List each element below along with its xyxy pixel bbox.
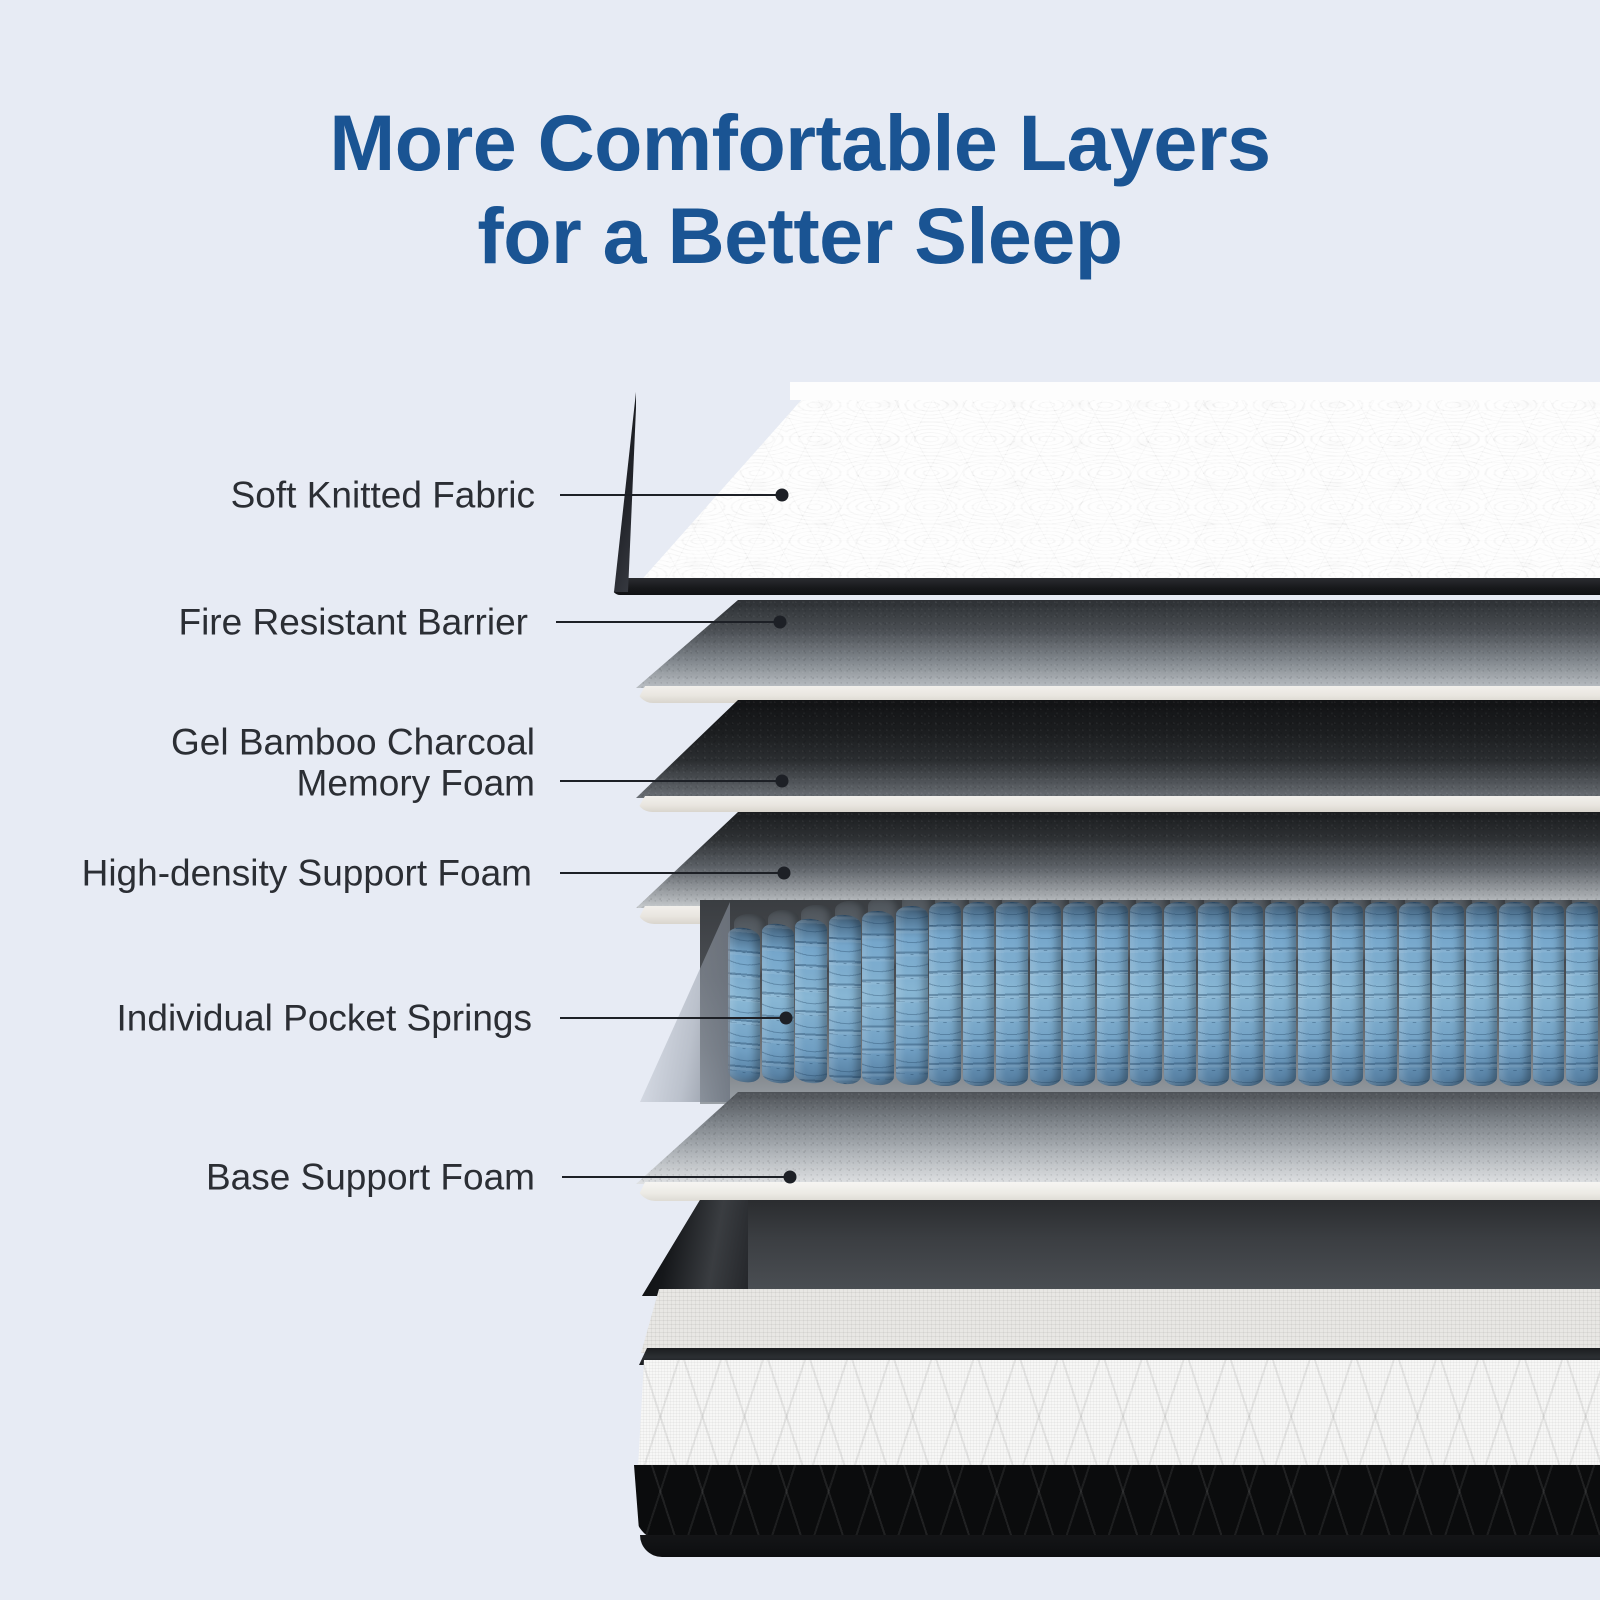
base-gloss-band (628, 1200, 1600, 1296)
spring-coil-rings (762, 922, 794, 1084)
pocket-spring (795, 918, 827, 1085)
pocket-spring (1566, 902, 1598, 1086)
pocket-spring (1231, 902, 1263, 1086)
foam-grain (620, 1092, 1600, 1184)
label-high-density-support-foam: High-density Support Foam (0, 852, 532, 893)
label-individual-pocket-springs: Individual Pocket Springs (0, 997, 532, 1038)
foam-grain (620, 812, 1600, 908)
pocket-spring (1063, 902, 1095, 1086)
pocket-spring (728, 926, 760, 1084)
leader-line-base-support-foam (562, 1176, 790, 1178)
spring-coil-rings (1566, 902, 1598, 1086)
fabric-dark-edge (612, 578, 1600, 595)
leader-dot-gel-bamboo-charcoal-memory-foam (776, 775, 789, 788)
spring-coil-rings (1164, 902, 1196, 1086)
spring-coil-rings (1499, 902, 1531, 1086)
spring-coil-rings (1365, 902, 1397, 1086)
chevron-pattern (634, 1360, 1600, 1468)
spring-coil-rings (728, 926, 760, 1084)
leader-line-individual-pocket-springs (560, 1017, 786, 1019)
leader-dot-soft-knitted-fabric (776, 489, 789, 502)
leader-line-high-density-support-foam (560, 872, 784, 874)
layer-base-support-foam (620, 1092, 1600, 1204)
base-foam-front-edge (636, 1182, 1600, 1201)
spring-coil-rings (1466, 902, 1498, 1086)
spring-coil-rings (1533, 902, 1565, 1086)
spring-coil-rings (1399, 902, 1431, 1086)
pocket-spring (1399, 902, 1431, 1086)
pocket-spring (1030, 902, 1062, 1086)
leader-dot-fire-resistant-barrier (774, 616, 787, 629)
spring-coil-rings (1265, 902, 1297, 1086)
infographic-canvas: More Comfortable Layers for a Better Sle… (0, 0, 1600, 1600)
base-white-chevron-panel (634, 1360, 1600, 1468)
base-mesh-band (631, 1289, 1600, 1353)
spring-coil-rings (862, 910, 894, 1085)
label-soft-knitted-fabric: Soft Knitted Fabric (0, 474, 535, 515)
pocket-spring (1332, 902, 1364, 1086)
leader-dot-base-support-foam (784, 1171, 797, 1184)
pocket-spring (929, 902, 961, 1086)
spring-coil-rings (1097, 902, 1129, 1086)
spring-coil-rings (1130, 902, 1162, 1086)
spring-coil-rings (795, 918, 827, 1085)
pocket-spring (762, 922, 794, 1084)
spring-coil-rings (1332, 902, 1364, 1086)
foam-grain (620, 700, 1600, 798)
pocket-spring (996, 902, 1028, 1086)
leader-line-soft-knitted-fabric (560, 494, 782, 496)
spring-coil-rings (1198, 902, 1230, 1086)
pocket-spring (963, 902, 995, 1086)
pocket-spring (1432, 902, 1464, 1086)
leader-line-fire-resistant-barrier (556, 621, 780, 623)
pocket-spring (829, 914, 861, 1085)
high-density-foam-top-face (620, 812, 1600, 908)
fabric-scalloped-edge (790, 382, 1600, 400)
foam-grain (620, 600, 1600, 688)
charcoal-foam-front-edge (636, 796, 1600, 812)
chevron-pattern-dark (634, 1465, 1600, 1543)
label-gel-bamboo-charcoal-memory-foam: Gel Bamboo Charcoal Memory Foam (0, 722, 535, 805)
pocket-spring (1298, 902, 1330, 1086)
pocket-spring (1265, 902, 1297, 1086)
pocket-spring (1097, 902, 1129, 1086)
pocket-spring (1533, 902, 1565, 1086)
spring-coil-rings (896, 906, 928, 1086)
pocket-spring (1164, 902, 1196, 1086)
layer-gel-bamboo-charcoal-memory-foam (620, 700, 1600, 818)
label-fire-resistant-barrier: Fire Resistant Barrier (0, 601, 528, 642)
leader-dot-high-density-support-foam (778, 867, 791, 880)
base-gloss-highlight (628, 1200, 748, 1296)
pocket-spring (896, 906, 928, 1086)
layer-soft-knitted-fabric (612, 388, 1600, 593)
spring-coil-rings (996, 902, 1028, 1086)
spring-coil-rings (1298, 902, 1330, 1086)
pocket-spring (1365, 902, 1397, 1086)
base-foam-top-face (620, 1092, 1600, 1184)
pocket-spring (1466, 902, 1498, 1086)
spring-coil-rings (1432, 902, 1464, 1086)
base-foot-edge (640, 1535, 1600, 1557)
spring-coil-rings (963, 902, 995, 1086)
base-black-chevron-panel (634, 1465, 1600, 1543)
knitted-fabric-surface (612, 388, 1600, 593)
pocket-spring (1198, 902, 1230, 1086)
charcoal-foam-top-face (620, 700, 1600, 798)
layer-individual-pocket-springs (700, 900, 1600, 1104)
pocket-spring (1499, 902, 1531, 1086)
springs-left-wedge (640, 902, 730, 1102)
layer-fire-resistant-barrier (620, 600, 1600, 708)
label-base-support-foam: Base Support Foam (0, 1156, 535, 1197)
fabric-left-edge-bevel (606, 392, 636, 592)
spring-coil-rings (1030, 902, 1062, 1086)
quilt-pattern-secondary (612, 388, 1600, 593)
leader-dot-individual-pocket-springs (780, 1012, 793, 1025)
pocket-spring (1130, 902, 1162, 1086)
leader-line-gel-bamboo-charcoal-memory-foam (560, 780, 782, 782)
spring-coil-rings (1063, 902, 1095, 1086)
spring-coil-rings (1231, 902, 1263, 1086)
spring-coil-rings (929, 902, 961, 1086)
pocket-spring (862, 910, 894, 1085)
spring-coil-rings (829, 914, 861, 1085)
fire-barrier-top-face (620, 600, 1600, 688)
